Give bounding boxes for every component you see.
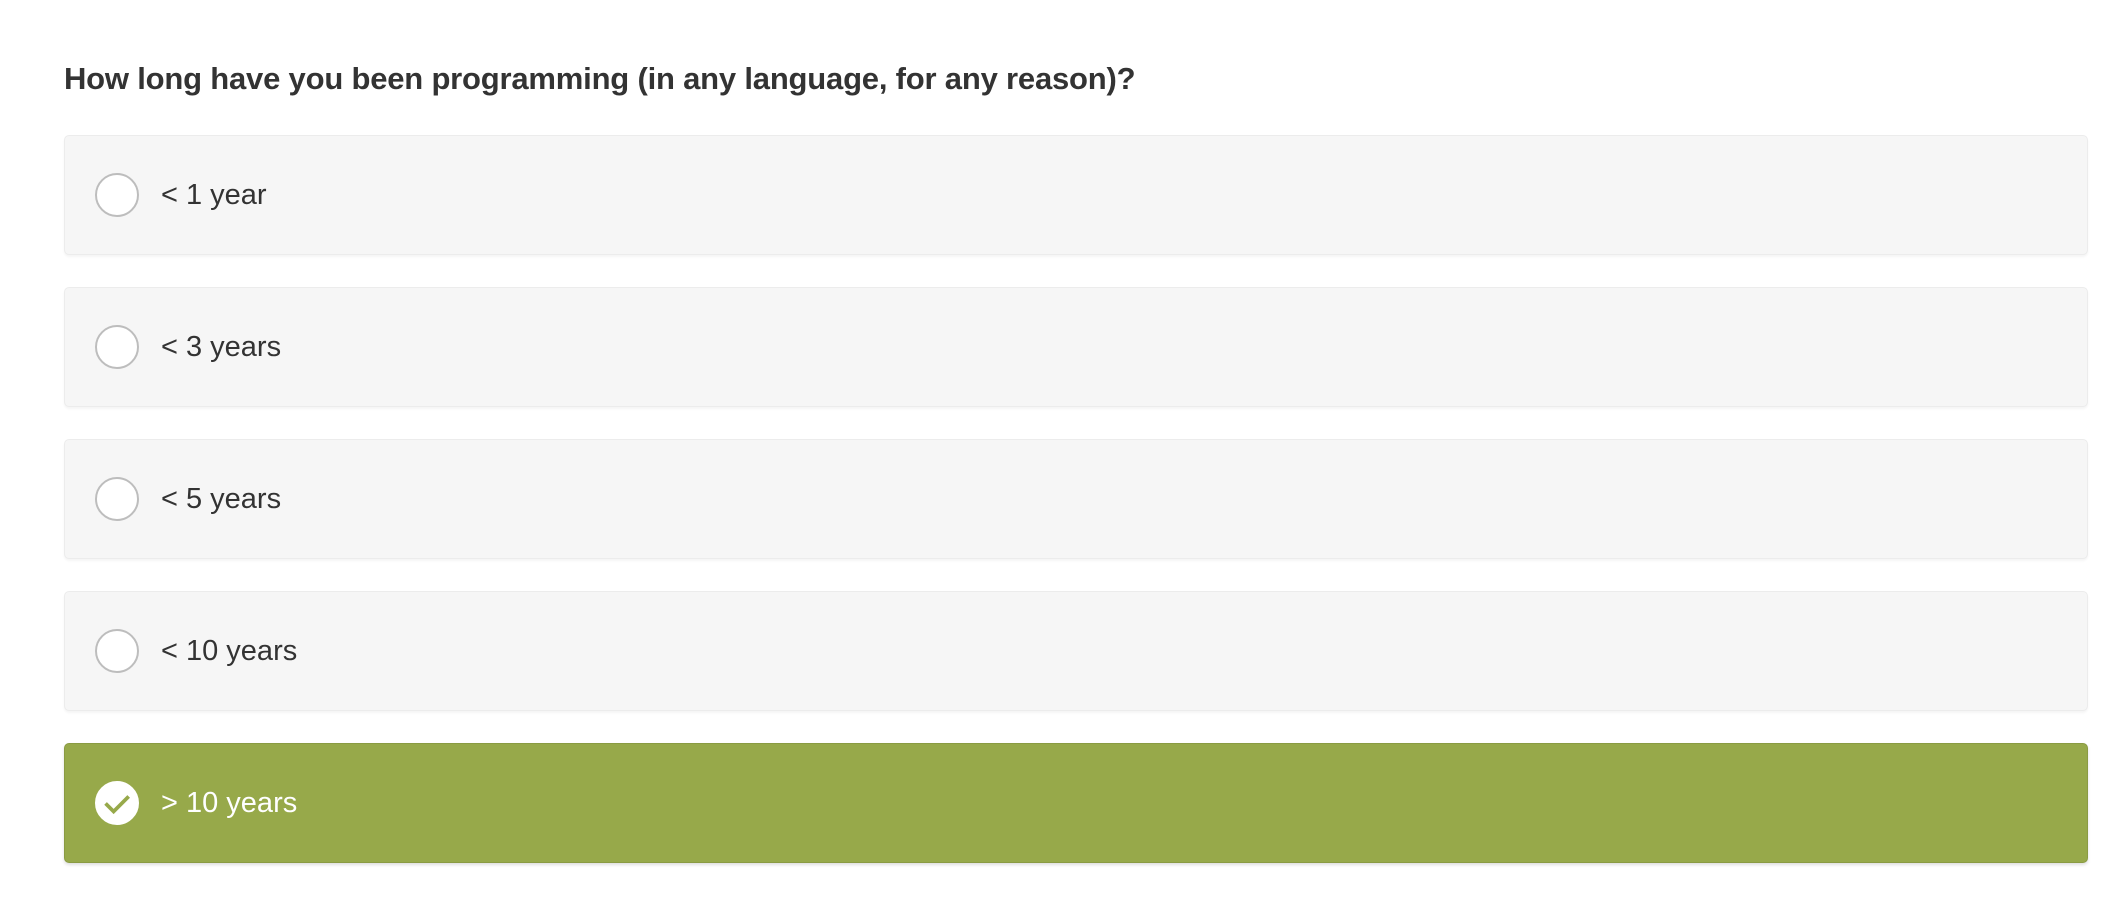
radio-options-list: < 1 year< 3 years< 5 years< 10 years> 10… (64, 135, 2088, 863)
option-label: < 10 years (161, 637, 297, 666)
option-label: > 10 years (161, 789, 297, 818)
option-lt-1-year[interactable]: < 1 year (64, 135, 2088, 255)
option-label: < 3 years (161, 333, 281, 362)
radio-circle-icon[interactable] (95, 629, 139, 673)
option-label: < 1 year (161, 181, 267, 210)
check-circle-icon[interactable] (95, 781, 139, 825)
option-lt-10-years[interactable]: < 10 years (64, 591, 2088, 711)
radio-circle-icon[interactable] (95, 173, 139, 217)
option-lt-5-years[interactable]: < 5 years (64, 439, 2088, 559)
option-gt-10-years[interactable]: > 10 years (64, 743, 2088, 863)
radio-circle-icon[interactable] (95, 477, 139, 521)
survey-question-panel: How long have you been programming (in a… (0, 0, 2128, 863)
page-title: How long have you been programming (in a… (64, 0, 2088, 97)
option-lt-3-years[interactable]: < 3 years (64, 287, 2088, 407)
radio-circle-icon[interactable] (95, 325, 139, 369)
option-label: < 5 years (161, 485, 281, 514)
